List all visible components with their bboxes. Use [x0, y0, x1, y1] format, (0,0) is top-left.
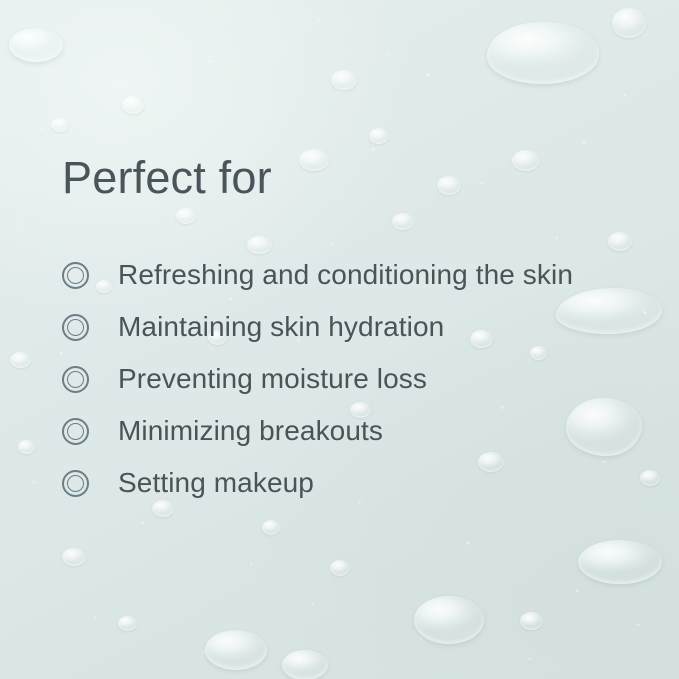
list-item: Minimizing breakouts	[62, 405, 662, 457]
page-title: Perfect for	[62, 155, 272, 200]
list-item: Refreshing and conditioning the skin	[62, 249, 662, 301]
double-ring-icon	[62, 366, 89, 393]
list-item: Maintaining skin hydration	[62, 301, 662, 353]
content-block: Perfect for Refreshing and conditioning …	[62, 0, 662, 679]
double-ring-icon	[62, 470, 89, 497]
water-droplet	[18, 440, 35, 454]
benefits-list: Refreshing and conditioning the skin Mai…	[62, 249, 662, 509]
list-item: Preventing moisture loss	[62, 353, 662, 405]
list-item-label: Refreshing and conditioning the skin	[118, 261, 573, 289]
double-ring-icon	[62, 418, 89, 445]
list-item-label: Preventing moisture loss	[118, 365, 427, 393]
list-item-label: Maintaining skin hydration	[118, 313, 444, 341]
list-item: Setting makeup	[62, 457, 662, 509]
water-droplet	[9, 28, 63, 62]
list-item-label: Minimizing breakouts	[118, 417, 383, 445]
product-benefits-poster: Perfect for Refreshing and conditioning …	[0, 0, 679, 679]
double-ring-icon	[62, 262, 89, 289]
water-droplet	[10, 352, 31, 368]
list-item-label: Setting makeup	[118, 469, 314, 497]
double-ring-icon	[62, 314, 89, 341]
